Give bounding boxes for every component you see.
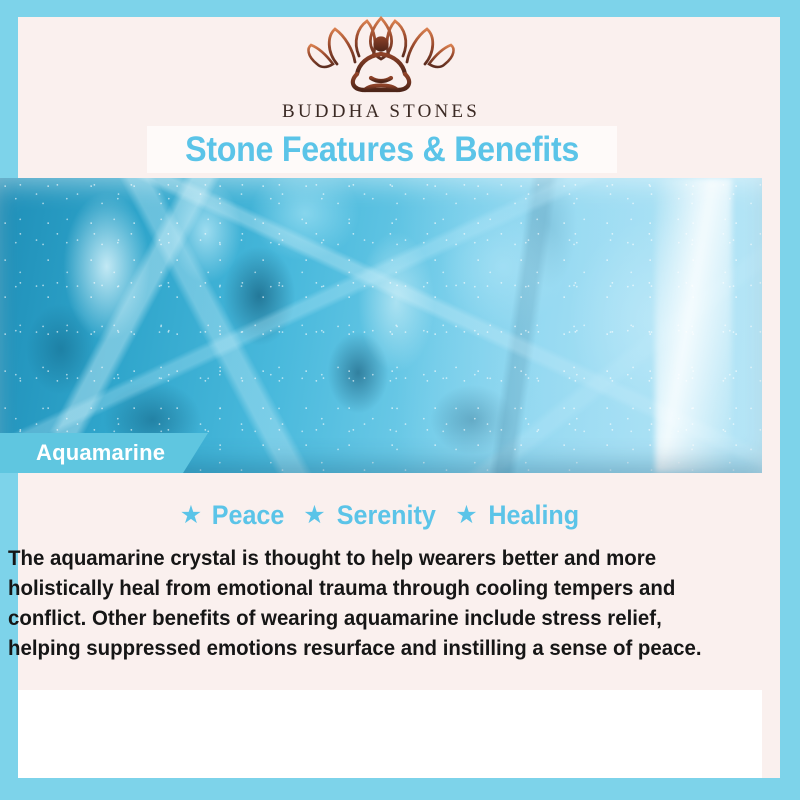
page-title: Stone Features & Benefits bbox=[185, 130, 579, 170]
frame-strip-bottom bbox=[0, 778, 800, 800]
keyword-item-peace: ★ Peace bbox=[180, 500, 288, 531]
keyword-item-healing: ★ Healing bbox=[455, 500, 582, 531]
keyword-item-serenity: ★ Serenity bbox=[303, 500, 439, 531]
stone-description: The aquamarine crystal is thought to hel… bbox=[8, 543, 717, 663]
title-panel: Stone Features & Benefits bbox=[147, 126, 617, 173]
stone-name-label: Aquamarine bbox=[36, 440, 165, 466]
brand-wordmark: BUDDHA STONES bbox=[282, 101, 480, 123]
infographic-card: BUDDHA STONES Stone Features & Benefits … bbox=[0, 0, 800, 800]
keyword-row: ★ Peace ★ Serenity ★ Healing bbox=[0, 500, 762, 531]
keyword-label: Peace bbox=[212, 500, 285, 531]
aquamarine-crystal-photo bbox=[0, 178, 762, 473]
stone-name-banner: Aquamarine bbox=[0, 433, 208, 473]
bottom-white-area bbox=[18, 690, 762, 778]
keyword-label: Healing bbox=[488, 500, 579, 531]
star-icon: ★ bbox=[180, 503, 202, 528]
brand-logo-block: BUDDHA STONES bbox=[0, 12, 762, 123]
keyword-label: Serenity bbox=[336, 500, 435, 531]
frame-strip-right bbox=[780, 0, 800, 800]
lotus-meditation-icon bbox=[297, 12, 465, 98]
star-icon: ★ bbox=[303, 503, 325, 528]
star-icon: ★ bbox=[455, 503, 477, 528]
photo-vignette-layer bbox=[0, 178, 762, 473]
